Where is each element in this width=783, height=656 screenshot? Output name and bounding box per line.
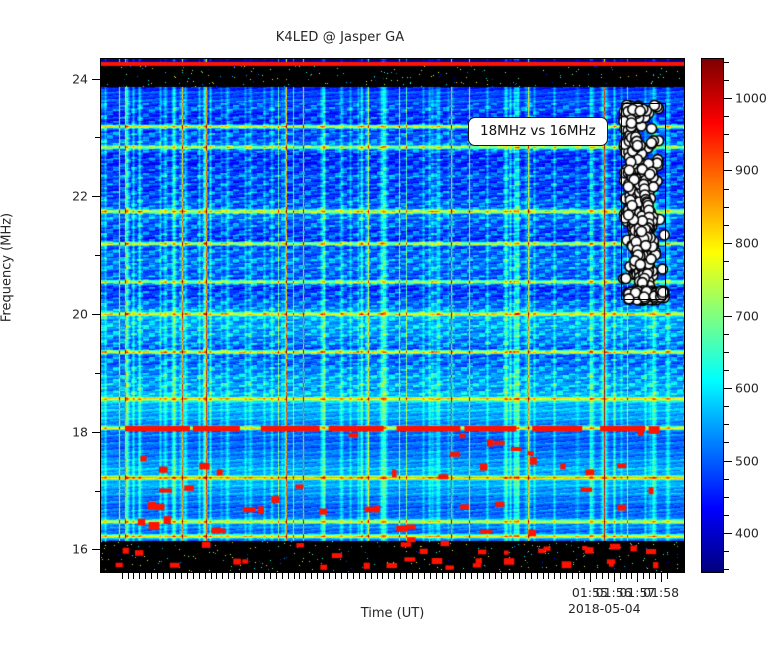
y-axis-tick-label: 24 [72, 71, 88, 86]
colorbar-major-tick [724, 461, 732, 462]
x-axis-minor-tick [323, 573, 324, 579]
colorbar-minor-tick [724, 424, 729, 425]
x-axis-minor-tick [222, 573, 223, 579]
y-axis-tick-label: 22 [72, 189, 88, 204]
x-axis-minor-tick [543, 573, 544, 579]
x-axis-minor-tick [133, 573, 134, 579]
x-axis-minor-tick [394, 573, 395, 579]
y-axis-title: Frequency (MHz) [0, 118, 15, 418]
y-axis-minor-tick [95, 491, 100, 492]
y-axis-major-tick [92, 196, 100, 197]
x-axis-minor-tick [258, 573, 259, 579]
colorbar-minor-tick [724, 80, 729, 81]
x-axis-minor-tick [548, 573, 549, 579]
x-axis-minor-tick [483, 573, 484, 579]
x-axis-minor-tick [537, 573, 538, 579]
x-axis-minor-tick [495, 573, 496, 579]
x-axis-minor-tick [448, 573, 449, 579]
x-axis-tick-label: 01:58 [643, 585, 679, 600]
colorbar-minor-tick [724, 442, 729, 443]
x-axis-minor-tick [519, 573, 520, 579]
x-axis-minor-tick [187, 573, 188, 579]
colorbar-minor-tick [724, 225, 729, 226]
colorbar-tick-label: 800 [735, 235, 759, 250]
x-axis-minor-tick [157, 573, 158, 579]
x-axis-minor-tick [353, 573, 354, 579]
x-axis-minor-tick [382, 573, 383, 579]
x-axis-minor-tick [216, 573, 217, 579]
x-axis-minor-tick [151, 573, 152, 579]
x-axis-minor-tick [282, 573, 283, 579]
x-axis-minor-tick [169, 573, 170, 579]
x-axis-minor-tick [199, 573, 200, 579]
colorbar-minor-tick [724, 279, 729, 280]
x-axis-minor-tick [442, 573, 443, 579]
x-axis-minor-tick [329, 573, 330, 579]
x-axis-minor-tick [507, 573, 508, 579]
colorbar-minor-tick [724, 551, 729, 552]
x-axis-minor-tick [234, 573, 235, 579]
x-axis-minor-tick [424, 573, 425, 579]
colorbar[interactable] [701, 58, 724, 573]
x-axis-minor-tick [305, 573, 306, 579]
x-axis-minor-tick [205, 573, 206, 579]
colorbar-major-tick [724, 533, 732, 534]
x-axis-minor-tick [626, 573, 627, 579]
x-axis-minor-tick [608, 573, 609, 579]
x-axis-minor-tick [163, 573, 164, 579]
colorbar-tick-label: 400 [735, 526, 759, 541]
colorbar-minor-tick [724, 479, 729, 480]
x-axis-minor-tick [578, 573, 579, 579]
x-axis-minor-tick [317, 573, 318, 579]
x-axis-minor-tick [489, 573, 490, 579]
x-axis-minor-tick [572, 573, 573, 579]
x-axis-minor-tick [139, 573, 140, 579]
x-axis-major-tick [661, 573, 662, 582]
x-axis-minor-tick [347, 573, 348, 579]
x-axis-minor-tick [554, 573, 555, 579]
x-axis-minor-tick [211, 573, 212, 579]
colorbar-minor-tick [724, 406, 729, 407]
x-axis-minor-tick [531, 573, 532, 579]
y-axis-minor-tick [95, 373, 100, 374]
x-axis-minor-tick [228, 573, 229, 579]
x-axis-minor-tick [655, 573, 656, 579]
y-axis-major-tick [92, 79, 100, 80]
x-axis-minor-tick [264, 573, 265, 579]
y-axis-major-tick [92, 549, 100, 550]
x-axis-minor-tick [359, 573, 360, 579]
x-axis-minor-tick [252, 573, 253, 579]
figure-canvas: K4LED @ Jasper GA 18MHz vs 16MHz 1618202… [0, 0, 783, 656]
colorbar-minor-tick [724, 352, 729, 353]
x-axis-minor-tick [460, 573, 461, 579]
colorbar-tick-label: 900 [735, 163, 759, 178]
y-axis-minor-tick [95, 137, 100, 138]
x-axis-minor-tick [145, 573, 146, 579]
colorbar-minor-tick [724, 370, 729, 371]
x-axis-minor-tick [620, 573, 621, 579]
x-axis-minor-tick [649, 573, 650, 579]
x-axis-minor-tick [454, 573, 455, 579]
x-axis-minor-tick [418, 573, 419, 579]
colorbar-minor-tick [724, 207, 729, 208]
colorbar-major-tick [724, 243, 732, 244]
colorbar-minor-tick [724, 515, 729, 516]
colorbar-minor-tick [724, 189, 729, 190]
x-axis-minor-tick [288, 573, 289, 579]
x-axis-major-tick [637, 573, 638, 582]
x-axis-minor-tick [294, 573, 295, 579]
annotation-label: 18MHz vs 16MHz [468, 117, 608, 146]
x-axis-minor-tick [299, 573, 300, 579]
x-axis-minor-tick [365, 573, 366, 579]
x-axis-major-tick [590, 573, 591, 582]
colorbar-minor-tick [724, 297, 729, 298]
x-axis-minor-tick [602, 573, 603, 579]
x-axis-minor-tick [246, 573, 247, 579]
colorbar-major-tick [724, 98, 732, 99]
colorbar-major-tick [724, 316, 732, 317]
colorbar-tick-label: 500 [735, 453, 759, 468]
x-axis-minor-tick [643, 573, 644, 579]
x-axis-minor-tick [128, 573, 129, 579]
x-axis-minor-tick [584, 573, 585, 579]
x-axis-minor-tick [477, 573, 478, 579]
x-axis-minor-tick [560, 573, 561, 579]
x-axis-minor-tick [513, 573, 514, 579]
colorbar-gradient [701, 58, 724, 573]
colorbar-tick-label: 600 [735, 381, 759, 396]
x-axis-minor-tick [335, 573, 336, 579]
colorbar-minor-tick [724, 134, 729, 135]
x-axis-minor-tick [371, 573, 372, 579]
x-axis-minor-tick [270, 573, 271, 579]
x-axis-minor-tick [667, 573, 668, 579]
y-axis-tick-label: 18 [72, 424, 88, 439]
x-axis-minor-tick [193, 573, 194, 579]
x-axis-minor-tick [412, 573, 413, 579]
x-axis-minor-tick [377, 573, 378, 579]
x-axis-major-tick [614, 573, 615, 582]
colorbar-tick-label: 1000 [735, 90, 767, 105]
x-axis-minor-tick [631, 573, 632, 579]
page-title: K4LED @ Jasper GA [0, 30, 680, 45]
x-axis-minor-tick [400, 573, 401, 579]
x-axis-minor-tick [240, 573, 241, 579]
x-axis-minor-tick [406, 573, 407, 579]
x-axis-minor-tick [566, 573, 567, 579]
colorbar-minor-tick [724, 62, 729, 63]
colorbar-minor-tick [724, 261, 729, 262]
x-axis-title: Time (UT) [100, 606, 685, 621]
x-axis-minor-tick [388, 573, 389, 579]
x-axis-minor-tick [465, 573, 466, 579]
y-axis-minor-tick [95, 255, 100, 256]
x-axis-minor-tick [175, 573, 176, 579]
x-axis-minor-tick [181, 573, 182, 579]
x-axis-minor-tick [471, 573, 472, 579]
colorbar-minor-tick [724, 152, 729, 153]
colorbar-minor-tick [724, 334, 729, 335]
x-axis-minor-tick [525, 573, 526, 579]
colorbar-minor-tick [724, 569, 729, 570]
colorbar-major-tick [724, 170, 732, 171]
x-axis-minor-tick [596, 573, 597, 579]
x-axis-minor-tick [311, 573, 312, 579]
colorbar-tick-label: 700 [735, 308, 759, 323]
x-axis-minor-tick [430, 573, 431, 579]
x-axis-minor-tick [501, 573, 502, 579]
y-axis-tick-label: 16 [72, 542, 88, 557]
x-axis-minor-tick [341, 573, 342, 579]
x-axis-minor-tick [436, 573, 437, 579]
x-axis-minor-tick [276, 573, 277, 579]
x-axis-minor-tick [122, 573, 123, 579]
y-axis-major-tick [92, 314, 100, 315]
y-axis-major-tick [92, 432, 100, 433]
colorbar-minor-tick [724, 497, 729, 498]
y-axis-tick-label: 20 [72, 307, 88, 322]
colorbar-major-tick [724, 388, 732, 389]
colorbar-minor-tick [724, 116, 729, 117]
